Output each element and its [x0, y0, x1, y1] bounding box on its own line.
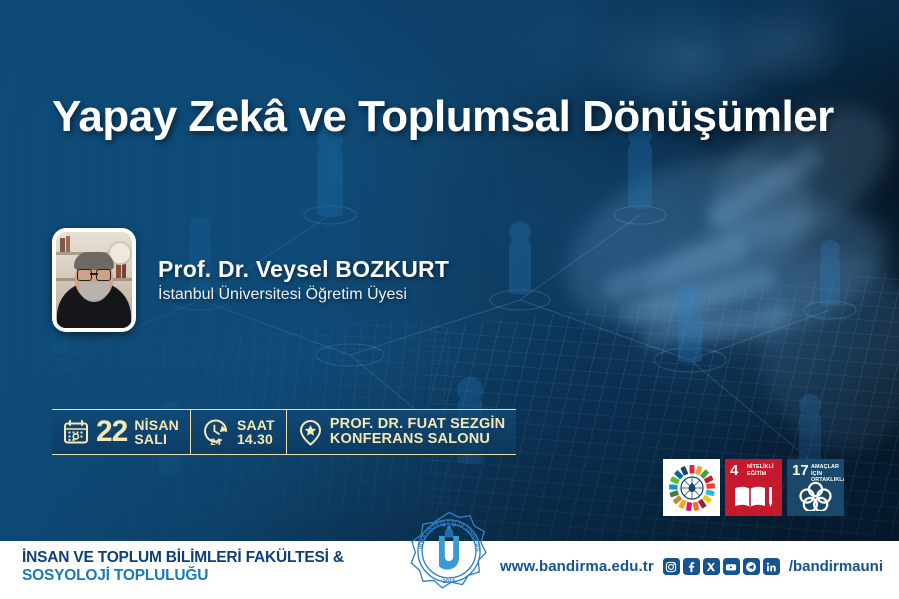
- event-poster: Yapay Zekâ ve Toplumsal Dönüşümler: [0, 0, 899, 599]
- event-day-number: 22: [96, 417, 127, 447]
- location-pin-icon: [298, 419, 323, 446]
- x-icon[interactable]: [703, 558, 720, 575]
- footer-bar: İNSAN VE TOPLUM BİLİMLERİ FAKÜLTESİ & SO…: [0, 541, 899, 599]
- speaker-affiliation: İstanbul Üniversitesi Öğretim Üyesi: [158, 286, 449, 304]
- speaker-name: Prof. Dr. Veysel BOZKURT: [158, 257, 449, 282]
- speaker-block: Prof. Dr. Veysel BOZKURT İstanbul Üniver…: [52, 228, 449, 332]
- logo-year: 2015: [442, 579, 456, 585]
- event-details-bar: 22 NİSAN SALI 24 SAAT 14.30: [52, 409, 516, 455]
- university-logo: 2015 BANDIRMA ONYEDİ EYLÜL ÜNİVERSİTESİ: [407, 509, 491, 593]
- interlocking-circles-icon: [787, 481, 844, 511]
- sdg-wheel-icon: [667, 463, 717, 513]
- sdg-4-label: NİTELİKLİ EĞİTİM: [747, 464, 779, 477]
- event-venue-text: PROF. DR. FUAT SEZGİN KONFERANS SALONU: [330, 417, 506, 447]
- sdg-17-badge: 17 AMAÇLAR İÇİN ORTAKLIKLAR: [787, 459, 844, 516]
- telegram-icon[interactable]: [743, 558, 760, 575]
- youtube-icon[interactable]: [723, 558, 740, 575]
- page-title: Yapay Zekâ ve Toplumsal Dönüşümler: [52, 92, 882, 142]
- event-date: 22 NİSAN SALI: [52, 410, 190, 454]
- book-pencil-icon: [725, 483, 782, 511]
- sdg-wheel-badge: [663, 459, 720, 516]
- linkedin-icon[interactable]: [763, 558, 780, 575]
- social-handle[interactable]: /bandirmauni: [789, 558, 883, 575]
- organizer-line-2: SOSYOLOJİ TOPLULUĞU: [22, 567, 344, 585]
- instagram-icon[interactable]: [663, 558, 680, 575]
- facebook-icon[interactable]: [683, 558, 700, 575]
- speaker-photo-frame: [52, 228, 136, 332]
- event-month-weekday: NİSAN SALI: [134, 418, 179, 447]
- organizer-line-1: İNSAN VE TOPLUM BİLİMLERİ FAKÜLTESİ &: [22, 549, 344, 567]
- calendar-icon: [63, 419, 89, 445]
- sdg-17-number: 17: [792, 463, 809, 478]
- event-venue: PROF. DR. FUAT SEZGİN KONFERANS SALONU: [286, 410, 517, 454]
- organizer-title: İNSAN VE TOPLUM BİLİMLERİ FAKÜLTESİ & SO…: [22, 549, 344, 586]
- sdg-4-number: 4: [730, 463, 738, 478]
- web-contact: www.bandirma.edu.tr: [500, 558, 883, 575]
- clock-icon: 24: [202, 419, 230, 446]
- sdg-4-badge: 4 NİTELİKLİ EĞİTİM: [725, 459, 782, 516]
- event-time-text: SAAT 14.30: [237, 418, 275, 447]
- event-time: 24 SAAT 14.30: [190, 410, 286, 454]
- sdg-badges: 4 NİTELİKLİ EĞİTİM 17 AMAÇLAR İÇİN ORTAK…: [663, 459, 844, 516]
- avatar: [56, 232, 132, 328]
- website-url[interactable]: www.bandirma.edu.tr: [500, 558, 654, 575]
- svg-text:24: 24: [210, 437, 221, 446]
- social-icons: [663, 558, 780, 575]
